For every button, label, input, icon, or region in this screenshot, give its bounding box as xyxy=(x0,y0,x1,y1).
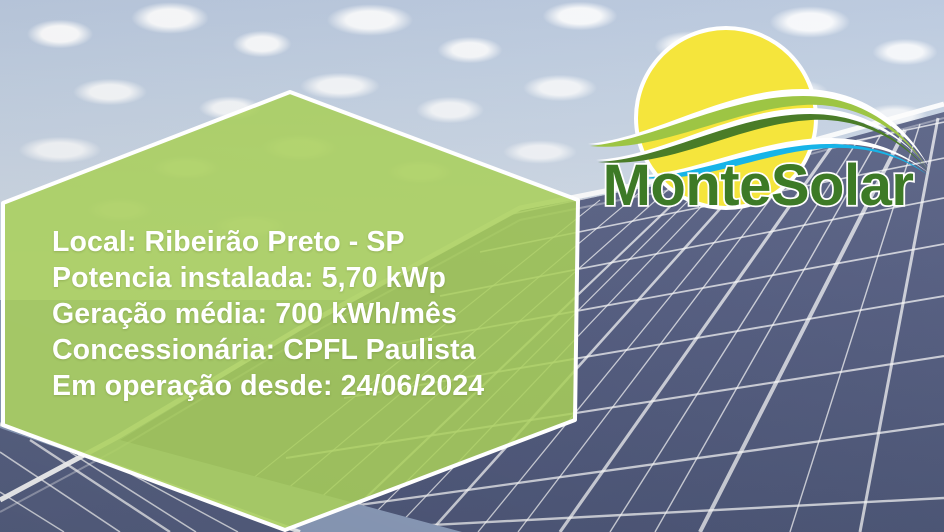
brand-wordmark: MonteSolar xyxy=(578,152,938,219)
spec-line-concessionaria: Concessionária: CPFL Paulista xyxy=(52,332,572,368)
spec-line-potencia: Potencia instalada: 5,70 kWp xyxy=(52,260,572,296)
spec-line-geracao: Geração média: 700 kWh/mês xyxy=(52,296,572,332)
spec-line-operacao: Em operação desde: 24/06/2024 xyxy=(52,368,572,404)
project-specs: Local: Ribeirão Preto - SP Potencia inst… xyxy=(52,224,572,404)
spec-line-local: Local: Ribeirão Preto - SP xyxy=(52,224,572,260)
brand-name: MonteSolar xyxy=(603,152,914,219)
solar-project-banner: Local: Ribeirão Preto - SP Potencia inst… xyxy=(0,0,944,532)
montesolar-logo[interactable]: MonteSolar xyxy=(578,12,938,217)
